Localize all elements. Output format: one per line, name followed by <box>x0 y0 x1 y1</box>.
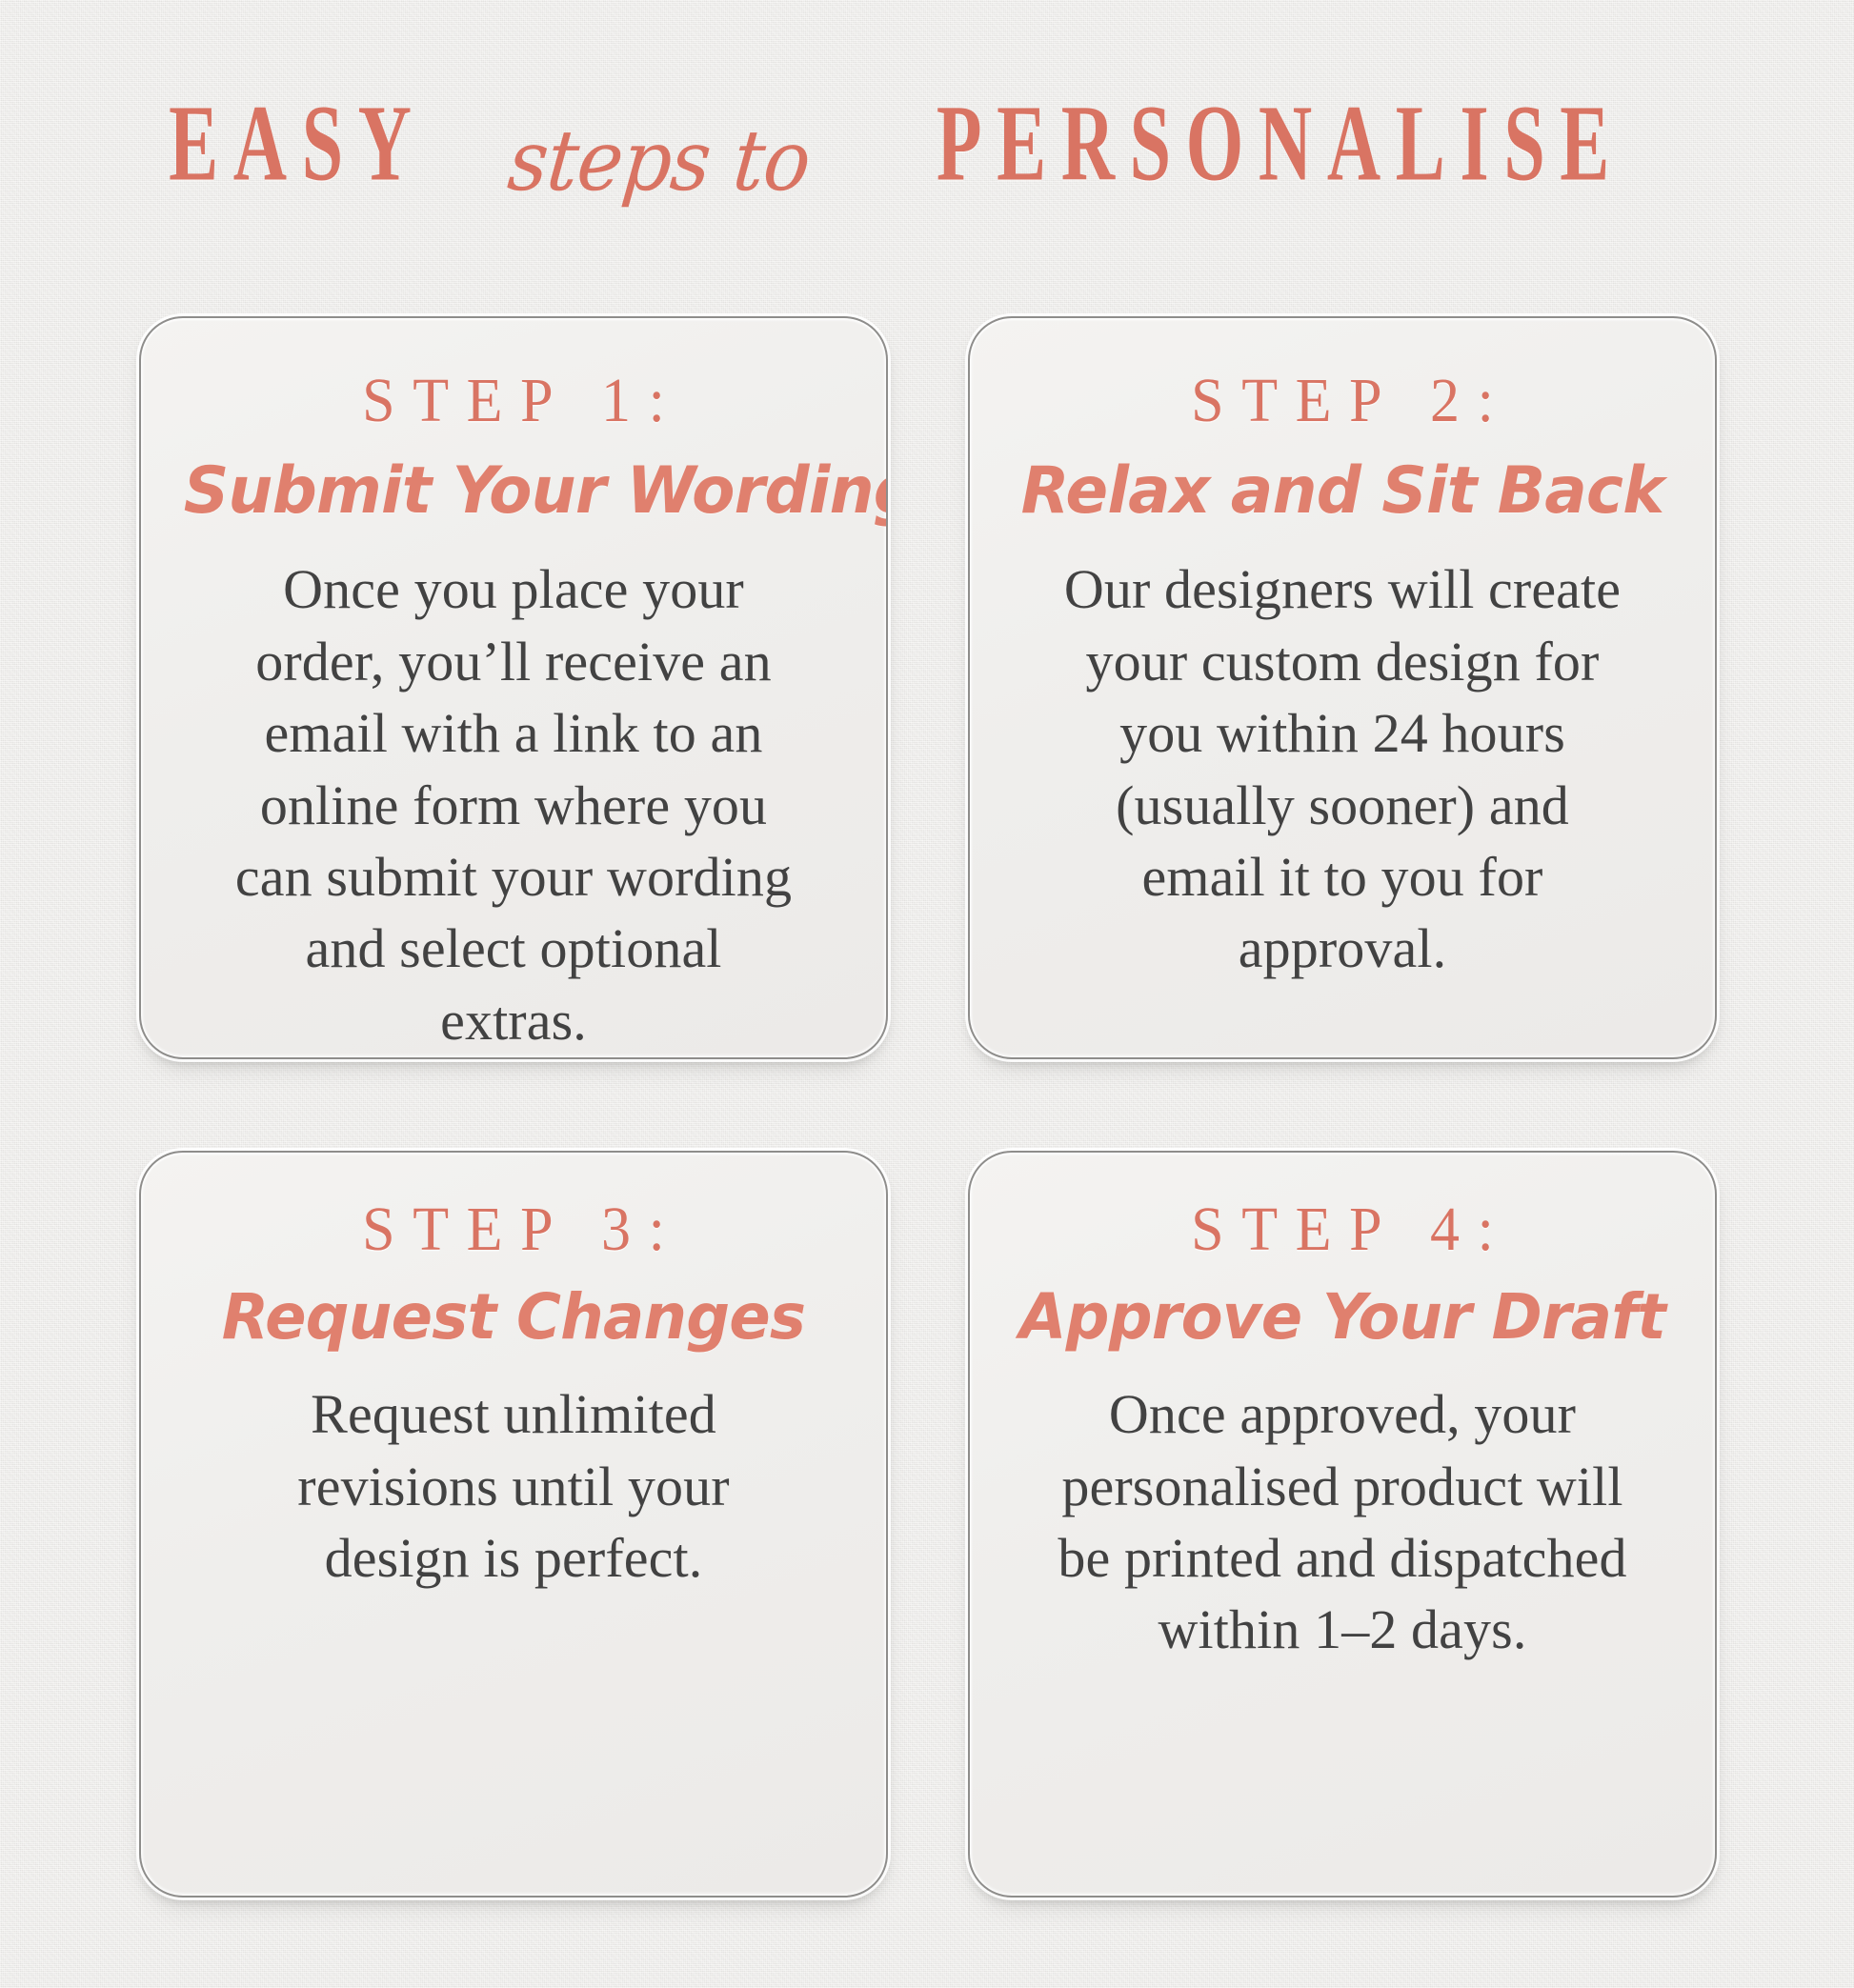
step-card-2: STEP 2: Relax and Sit Back Our designers… <box>968 316 1717 1059</box>
step-4-title: Approve Your Draft <box>1013 1284 1673 1350</box>
step-2-body: Our designers will create your custom de… <box>1058 553 1626 984</box>
personalisation-steps-page: EASYsteps toPERSONALISE STEP 1: Submit Y… <box>0 0 1854 1988</box>
step-card-1: STEP 1: Submit Your Wording Once you pla… <box>139 316 888 1059</box>
step-card-3: STEP 3: Request Changes Request unlimite… <box>139 1151 888 1898</box>
step-1-title: Submit Your Wording <box>184 457 844 525</box>
step-1-body: Once you place your order, you’ll receiv… <box>228 553 799 1056</box>
step-2-title: Relax and Sit Back <box>1013 457 1673 525</box>
step-4-label: STEP 4: <box>1002 1198 1683 1261</box>
step-3-title: Request Changes <box>184 1284 844 1350</box>
step-card-1-content: STEP 1: Submit Your Wording Once you pla… <box>141 371 886 1059</box>
step-3-label: STEP 3: <box>173 1198 854 1261</box>
step-3-body: Request unlimited revisions until your d… <box>266 1378 761 1594</box>
page-title-word-easy: EASY <box>169 90 426 198</box>
page-title-script-steps-to: steps to <box>505 119 814 203</box>
step-1-label: STEP 1: <box>173 370 854 432</box>
step-card-3-content: STEP 3: Request Changes Request unlimite… <box>141 1200 886 1898</box>
step-card-4-content: STEP 4: Approve Your Draft Once approved… <box>970 1200 1715 1898</box>
step-card-4: STEP 4: Approve Your Draft Once approved… <box>968 1151 1717 1898</box>
page-title: EASYsteps toPERSONALISE <box>0 103 1854 198</box>
step-card-2-content: STEP 2: Relax and Sit Back Our designers… <box>970 371 1715 1059</box>
step-4-body: Once approved, your personalised product… <box>1047 1378 1638 1666</box>
page-title-word-personalise: PERSONALISE <box>937 90 1624 198</box>
step-2-label: STEP 2: <box>1002 370 1683 432</box>
